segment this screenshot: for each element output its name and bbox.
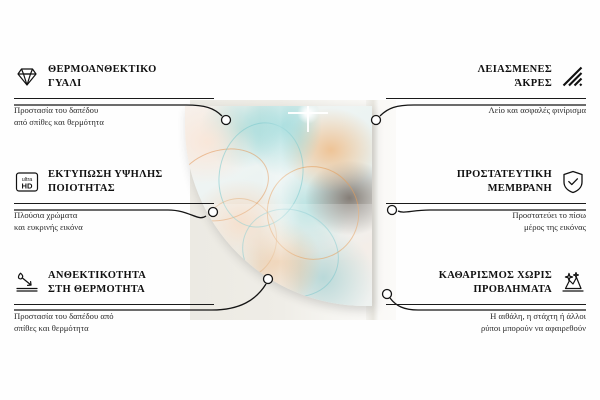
easy-cleaning-icon bbox=[560, 270, 586, 296]
feature-block-easy-cleaning[interactable]: ΚΑΘΑΡΙΣΜΟΣ ΧΩΡΙΣ ΠΡΟΒΛΗΜΑΤΑ Η αιθάλη, η … bbox=[386, 266, 586, 335]
divider bbox=[386, 98, 586, 99]
infographic-canvas: ΘΕΡΜΟΑΝΘΕΚΤΙΚΟ ΓΥΑΛΙ Προστασία του δαπέδ… bbox=[0, 0, 600, 400]
heat-resistance-icon bbox=[14, 270, 40, 296]
feature-subtitle: Προστατεύει το πίσω μέρος της εικόνας bbox=[386, 209, 586, 234]
product-image bbox=[180, 95, 410, 325]
feature-block-heat-resistance[interactable]: ΑΝΘΕΚΤΙΚΟΤΗΤΑ ΣΤΗ ΘΕΡΜΟΤΗΤΑ Προστασία το… bbox=[14, 266, 214, 335]
feature-title: ΘΕΡΜΟΑΝΘΕΚΤΙΚΟ ΓΥΑΛΙ bbox=[48, 63, 157, 91]
feature-title: ΚΑΘΑΡΙΣΜΟΣ ΧΩΡΙΣ ΠΡΟΒΛΗΜΑΤΑ bbox=[439, 269, 552, 297]
feature-title: ΠΡΟΣΤΑΤΕΥΤΙΚΗ ΜΕΜΒΡΑΝΗ bbox=[457, 168, 552, 196]
svg-text:HD: HD bbox=[22, 181, 33, 190]
feature-title: ΕΚΤΥΠΩΣΗ ΥΨΗΛΗΣ ΠΟΙΟΤΗΤΑΣ bbox=[48, 168, 163, 196]
feature-subtitle: Λείο και ασφαλές φινίρισμα bbox=[386, 104, 586, 116]
diamond-icon bbox=[14, 64, 40, 90]
feature-block-thermal-glass[interactable]: ΘΕΡΜΟΑΝΘΕΚΤΙΚΟ ΓΥΑΛΙ Προστασία του δαπέδ… bbox=[14, 60, 214, 129]
feature-subtitle: Προστασία του δαπέδου από σπίθες και θερ… bbox=[14, 310, 214, 335]
sparkle-icon bbox=[297, 106, 319, 124]
feature-block-high-quality-print[interactable]: ultra HD ΕΚΤΥΠΩΣΗ ΥΨΗΛΗΣ ΠΟΙΟΤΗΤΑΣ Πλούσ… bbox=[14, 165, 214, 234]
divider bbox=[14, 203, 214, 204]
feature-subtitle: Προστασία του δαπέδου από σπίθες και θερ… bbox=[14, 104, 214, 129]
feature-title: ΛΕΙΑΣΜΕΝΕΣ ΆΚΡΕΣ bbox=[478, 63, 552, 91]
divider bbox=[386, 304, 586, 305]
polished-edges-icon bbox=[560, 64, 586, 90]
feature-block-polished-edges[interactable]: ΛΕΙΑΣΜΕΝΕΣ ΆΚΡΕΣ Λείο και ασφαλές φινίρι… bbox=[386, 60, 586, 116]
divider bbox=[14, 304, 214, 305]
feature-subtitle: Η αιθάλη, η στάχτη ή άλλοι ρύποι μπορούν… bbox=[386, 310, 586, 335]
divider bbox=[386, 203, 586, 204]
feature-subtitle: Πλούσια χρώματα και ευκρινής εικόνα bbox=[14, 209, 214, 234]
shield-check-icon bbox=[560, 169, 586, 195]
feature-block-protective-membrane[interactable]: ΠΡΟΣΤΑΤΕΥΤΙΚΗ ΜΕΜΒΡΑΝΗ Προστατεύει το πί… bbox=[386, 165, 586, 234]
feature-title: ΑΝΘΕΚΤΙΚΟΤΗΤΑ ΣΤΗ ΘΕΡΜΟΤΗΤΑ bbox=[48, 269, 146, 297]
divider bbox=[14, 98, 214, 99]
ultra-hd-icon: ultra HD bbox=[14, 169, 40, 195]
